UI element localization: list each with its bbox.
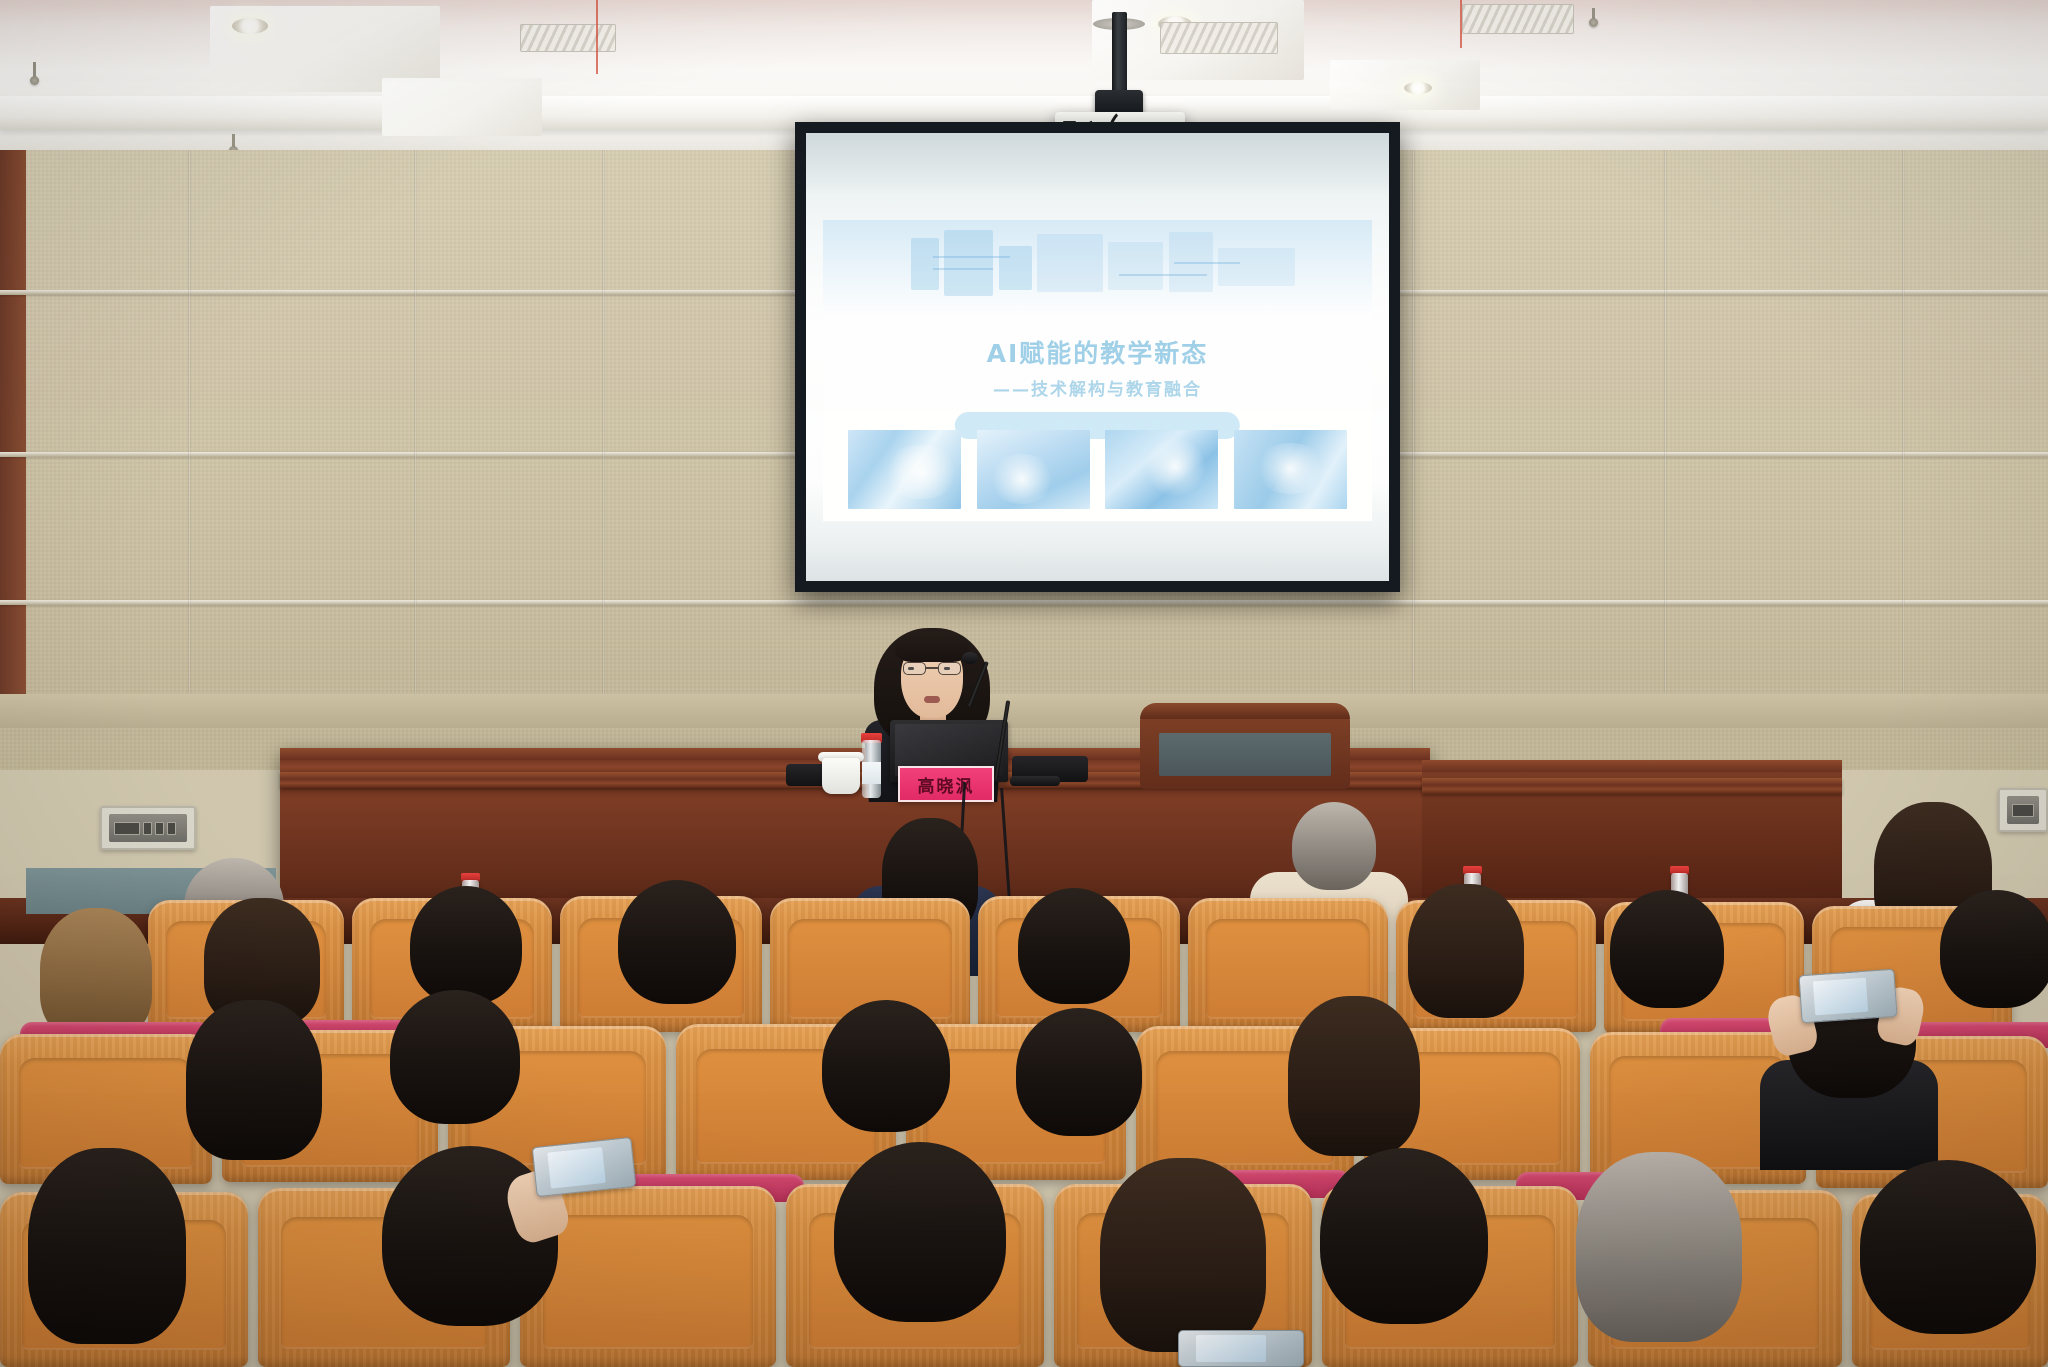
projector-mount-pole [1112, 12, 1127, 94]
person-hair [186, 1000, 322, 1160]
lectern-top-rail [1140, 703, 1350, 719]
lectern-body [1140, 715, 1350, 789]
slide-thumbnail [1234, 430, 1347, 508]
wall-seam [1412, 150, 1415, 696]
audience-person [176, 1000, 332, 1170]
wall-seam [1902, 150, 1905, 696]
teacup [822, 758, 860, 794]
person-head [1320, 1148, 1488, 1324]
slide-thumbnail [1105, 430, 1218, 508]
person-head [1940, 890, 2048, 1008]
person-head [822, 1000, 950, 1132]
person-head [1860, 1160, 2036, 1334]
lectern-front-panel [1159, 733, 1331, 776]
speaker-mouth [924, 696, 940, 703]
av-port-icon [114, 822, 140, 835]
audience-person [1310, 1148, 1500, 1367]
person-head [410, 886, 522, 1004]
stage-desk-molding [1422, 778, 1842, 794]
person-hair [1100, 1158, 1266, 1352]
sprinkler-head-icon [30, 76, 39, 85]
hvac-grille-icon [520, 24, 616, 52]
projection-screen: AI赋能的教学新态 ——技术解构与教育融合 高晓沨 上海交通大学 计算机学院 [795, 122, 1400, 592]
ceiling-wire [1460, 0, 1462, 48]
person-hair [28, 1148, 186, 1344]
speaker-nameplate: 高晓沨 [898, 766, 994, 802]
sprinkler-head-icon [1589, 18, 1598, 27]
person-head [1292, 802, 1376, 890]
wall-seam [602, 150, 605, 696]
presentation-slide: AI赋能的教学新态 ——技术解构与教育融合 高晓沨 上海交通大学 计算机学院 [823, 220, 1371, 520]
wall-seam [188, 150, 191, 696]
person-head [1016, 1008, 1142, 1136]
downlight-icon [232, 18, 268, 34]
ceiling-wire [596, 0, 598, 74]
wall-seam [414, 150, 417, 696]
audience-person [1008, 1008, 1152, 1172]
audience-person [18, 1148, 198, 1358]
glasses-lens [938, 662, 961, 675]
audience-person [1600, 890, 1732, 1036]
wooden-lectern [1140, 703, 1350, 803]
water-bottle-label [862, 762, 881, 784]
speaker-hair-fringe [895, 632, 969, 662]
person-head [618, 880, 736, 1004]
person-head [390, 990, 520, 1124]
av-port-icon [167, 822, 176, 835]
wall-side-return [0, 150, 26, 710]
wall-seam [1664, 150, 1667, 696]
stage-desk-top [1422, 760, 1842, 772]
ceiling-recess-panel [382, 78, 542, 136]
audience-person [608, 880, 744, 1030]
phone-screen [547, 1147, 605, 1189]
wall-seam [0, 600, 2048, 605]
glasses-lens [903, 662, 926, 675]
av-port-icon [155, 822, 164, 835]
audience-person [1934, 890, 2048, 1034]
microphone-head-icon [962, 652, 978, 664]
person-hair [40, 908, 152, 1040]
lecture-hall-photo: AI赋能的教学新态 ——技术解构与教育融合 高晓沨 上海交通大学 计算机学院 [0, 0, 2048, 1367]
slide-title: AI赋能的教学新态 [823, 334, 1371, 370]
av-connection-panel-left[interactable] [100, 806, 196, 850]
av-panel-ports [109, 814, 187, 842]
smartphone-right[interactable] [1798, 969, 1897, 1024]
slide-thumbnail [977, 430, 1090, 508]
slide-thumbnail [848, 430, 961, 508]
person-hair [1288, 996, 1420, 1156]
audience-person [822, 1142, 1018, 1367]
audience-person [1850, 1160, 2048, 1367]
stage-wall-strip [0, 694, 2048, 728]
tablet-device[interactable] [1178, 1330, 1304, 1367]
hvac-grille-icon [1160, 22, 1278, 54]
person-head [1018, 888, 1130, 1004]
glasses-icon [903, 662, 961, 675]
person-head [834, 1142, 1006, 1322]
slide-top-image-band [823, 220, 1371, 319]
phone-screen [1813, 977, 1868, 1016]
av-port-icon [143, 822, 152, 835]
slide-thumbnail-strip [848, 430, 1347, 508]
downlight-icon [1404, 82, 1432, 94]
smartphone-center[interactable] [532, 1137, 637, 1197]
glasses-bridge [926, 667, 938, 669]
hvac-grille-icon [1462, 4, 1574, 34]
audience-person [1566, 1152, 1754, 1367]
microphone-base [1010, 776, 1060, 786]
slide-subtitle: ——技术解构与教育融合 [823, 375, 1371, 400]
person-hair [1576, 1152, 1742, 1342]
tablet-screen [1196, 1335, 1265, 1362]
projection-screen-surface: AI赋能的教学新态 ——技术解构与教育融合 高晓沨 上海交通大学 计算机学院 [806, 133, 1389, 581]
person-head [1610, 890, 1724, 1008]
